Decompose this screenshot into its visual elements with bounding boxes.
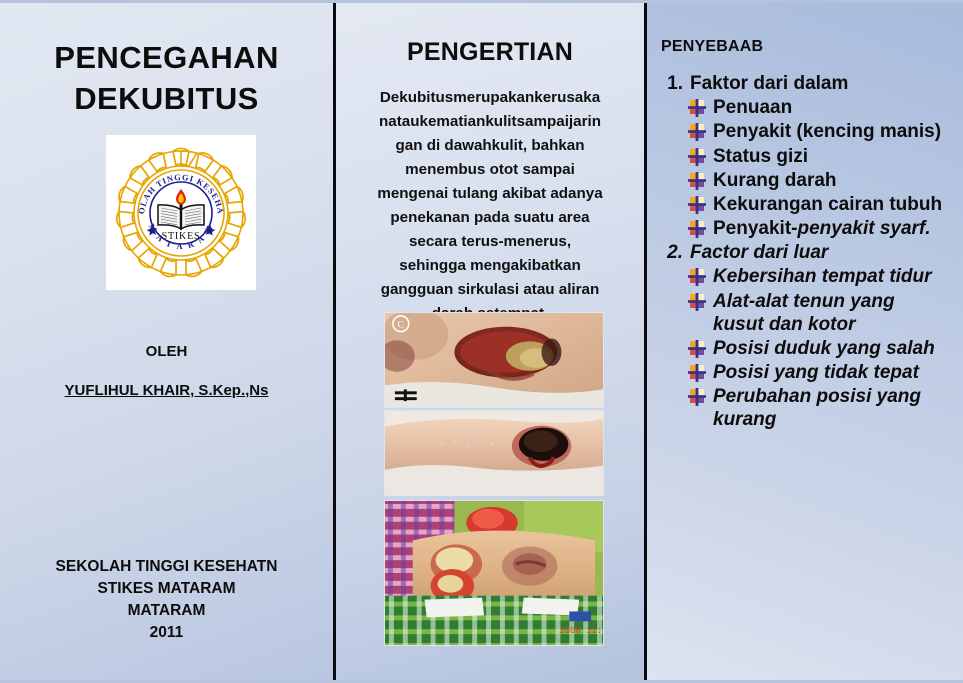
list-item-label: Penuaan bbox=[713, 96, 792, 119]
list-item-label-plain: Penyakit- bbox=[713, 218, 797, 239]
page-edge-top bbox=[0, 0, 963, 3]
list-item-label: Kurang darah bbox=[713, 169, 837, 192]
definition-line: gangguan sirkulasi atau aliran bbox=[344, 278, 636, 302]
svg-text:C: C bbox=[398, 320, 405, 331]
cover-title: PENCEGAHAN DEKUBITUS bbox=[0, 38, 333, 120]
section-number: 2. bbox=[657, 241, 690, 264]
panel-definition: PENGERTIAN Dekubitusmerupakankerusaka na… bbox=[336, 0, 644, 683]
list-item-label: Kebersihan tempat tidur bbox=[713, 265, 932, 288]
list-item-label: Posisi yang tidak tepat bbox=[713, 361, 919, 384]
author-name: YUFLIHUL KHAIR, S.Kep.,Ns bbox=[0, 382, 333, 399]
four-color-cross-bullet-icon bbox=[688, 340, 708, 359]
list-item: Penyakit (kencing manis) bbox=[688, 120, 957, 143]
causes-section-2-title: 2. Factor dari luar bbox=[657, 241, 957, 264]
four-color-cross-bullet-icon bbox=[688, 196, 708, 215]
list-item-label: Penyakit-penyakit syarf. bbox=[713, 217, 931, 240]
list-item-label: Penyakit (kencing manis) bbox=[713, 120, 941, 143]
four-color-cross-bullet-icon bbox=[688, 148, 708, 167]
definition-title: PENGERTIAN bbox=[336, 38, 644, 67]
institution-year: 2011 bbox=[0, 622, 333, 644]
list-item-label: Perubahan posisi yang kurang bbox=[713, 385, 945, 431]
cover-title-line-2: DEKUBITUS bbox=[0, 79, 333, 120]
institution-line-1: SEKOLAH TINGGI KESEHATN bbox=[0, 556, 333, 578]
stikes-mataram-logo: SEKOLAH TINGGI KESEHATAN M A T A R A M bbox=[106, 135, 256, 290]
four-color-cross-bullet-icon bbox=[688, 99, 708, 118]
definition-line: mengenai tulang akibat adanya bbox=[344, 182, 636, 206]
four-color-cross-bullet-icon bbox=[688, 172, 708, 191]
cover-title-line-1: PENCEGAHAN bbox=[0, 38, 333, 79]
definition-body: Dekubitusmerupakankerusaka nataukematian… bbox=[344, 86, 636, 326]
list-item: Status gizi bbox=[688, 145, 957, 168]
list-item: Kekurangan cairan tubuh bbox=[688, 193, 957, 216]
list-item: Penyakit-penyakit syarf. bbox=[688, 217, 957, 240]
panel-divider-left bbox=[333, 0, 336, 683]
section-number: 1. bbox=[657, 72, 690, 95]
pressure-ulcer-photo-2 bbox=[384, 410, 604, 496]
svg-text:STIKES: STIKES bbox=[162, 231, 201, 242]
causes-section-1-title: 1. Faktor dari dalam bbox=[657, 72, 957, 95]
pressure-ulcer-photo-1: C bbox=[384, 312, 604, 408]
by-label: OLEH bbox=[0, 343, 333, 360]
list-item-label: Alat-alat tenun yang kusut dan kotor bbox=[713, 290, 945, 336]
list-item: Posisi yang tidak tepat bbox=[688, 361, 957, 384]
list-item-label: Kekurangan cairan tubuh bbox=[713, 193, 942, 216]
definition-line: penekanan pada suatu area bbox=[344, 206, 636, 230]
section-title: Factor dari luar bbox=[690, 241, 828, 264]
four-color-cross-bullet-icon bbox=[688, 388, 708, 407]
panel-causes: PENYEBAAB 1. Faktor dari dalam bbox=[647, 0, 963, 683]
author-name-text: YUFLIHUL KHAIR, S.Kep.,Ns bbox=[65, 382, 269, 399]
panel-cover: PENCEGAHAN DEKUBITUS bbox=[0, 0, 333, 683]
svg-text:2008 11:29: 2008 11:29 bbox=[559, 626, 603, 636]
list-item: Perubahan posisi yang kurang bbox=[688, 385, 957, 431]
four-color-cross-bullet-icon bbox=[688, 364, 708, 383]
institution-line-3: MATARAM bbox=[0, 600, 333, 622]
list-item-label: Status gizi bbox=[713, 145, 808, 168]
institution-block: SEKOLAH TINGGI KESEHATN STIKES MATARAM M… bbox=[0, 556, 333, 644]
list-item: Kebersihan tempat tidur bbox=[688, 265, 957, 288]
pressure-ulcer-photo-3: 2008 11:29 bbox=[384, 500, 604, 646]
list-item-label-italic: penyakit syarf. bbox=[797, 218, 930, 239]
institution-line-2: STIKES MATARAM bbox=[0, 578, 333, 600]
definition-line: Dekubitusmerupakankerusaka bbox=[344, 86, 636, 110]
brochure-page: PENCEGAHAN DEKUBITUS bbox=[0, 0, 963, 683]
list-item: Posisi duduk yang salah bbox=[688, 337, 957, 360]
panel-divider-right bbox=[644, 0, 647, 683]
section-title: Faktor dari dalam bbox=[690, 72, 848, 95]
definition-line: nataukematiankulitsampaijarin bbox=[344, 110, 636, 134]
causes-heading: PENYEBAAB bbox=[661, 38, 763, 56]
four-color-cross-bullet-icon bbox=[688, 123, 708, 142]
four-color-cross-bullet-icon bbox=[688, 293, 708, 312]
definition-line: gan di dawahkulit, bahkan bbox=[344, 134, 636, 158]
definition-line: secara terus-menerus, bbox=[344, 230, 636, 254]
definition-line: sehingga mengakibatkan bbox=[344, 254, 636, 278]
four-color-cross-bullet-icon bbox=[688, 268, 708, 287]
list-item: Kurang darah bbox=[688, 169, 957, 192]
list-item-label: Posisi duduk yang salah bbox=[713, 337, 935, 360]
definition-line: menembus otot sampai bbox=[344, 158, 636, 182]
four-color-cross-bullet-icon bbox=[688, 220, 708, 239]
list-item: Alat-alat tenun yang kusut dan kotor bbox=[688, 290, 957, 336]
causes-list: 1. Faktor dari dalam Penuaan bbox=[657, 72, 957, 433]
list-item: Penuaan bbox=[688, 96, 957, 119]
